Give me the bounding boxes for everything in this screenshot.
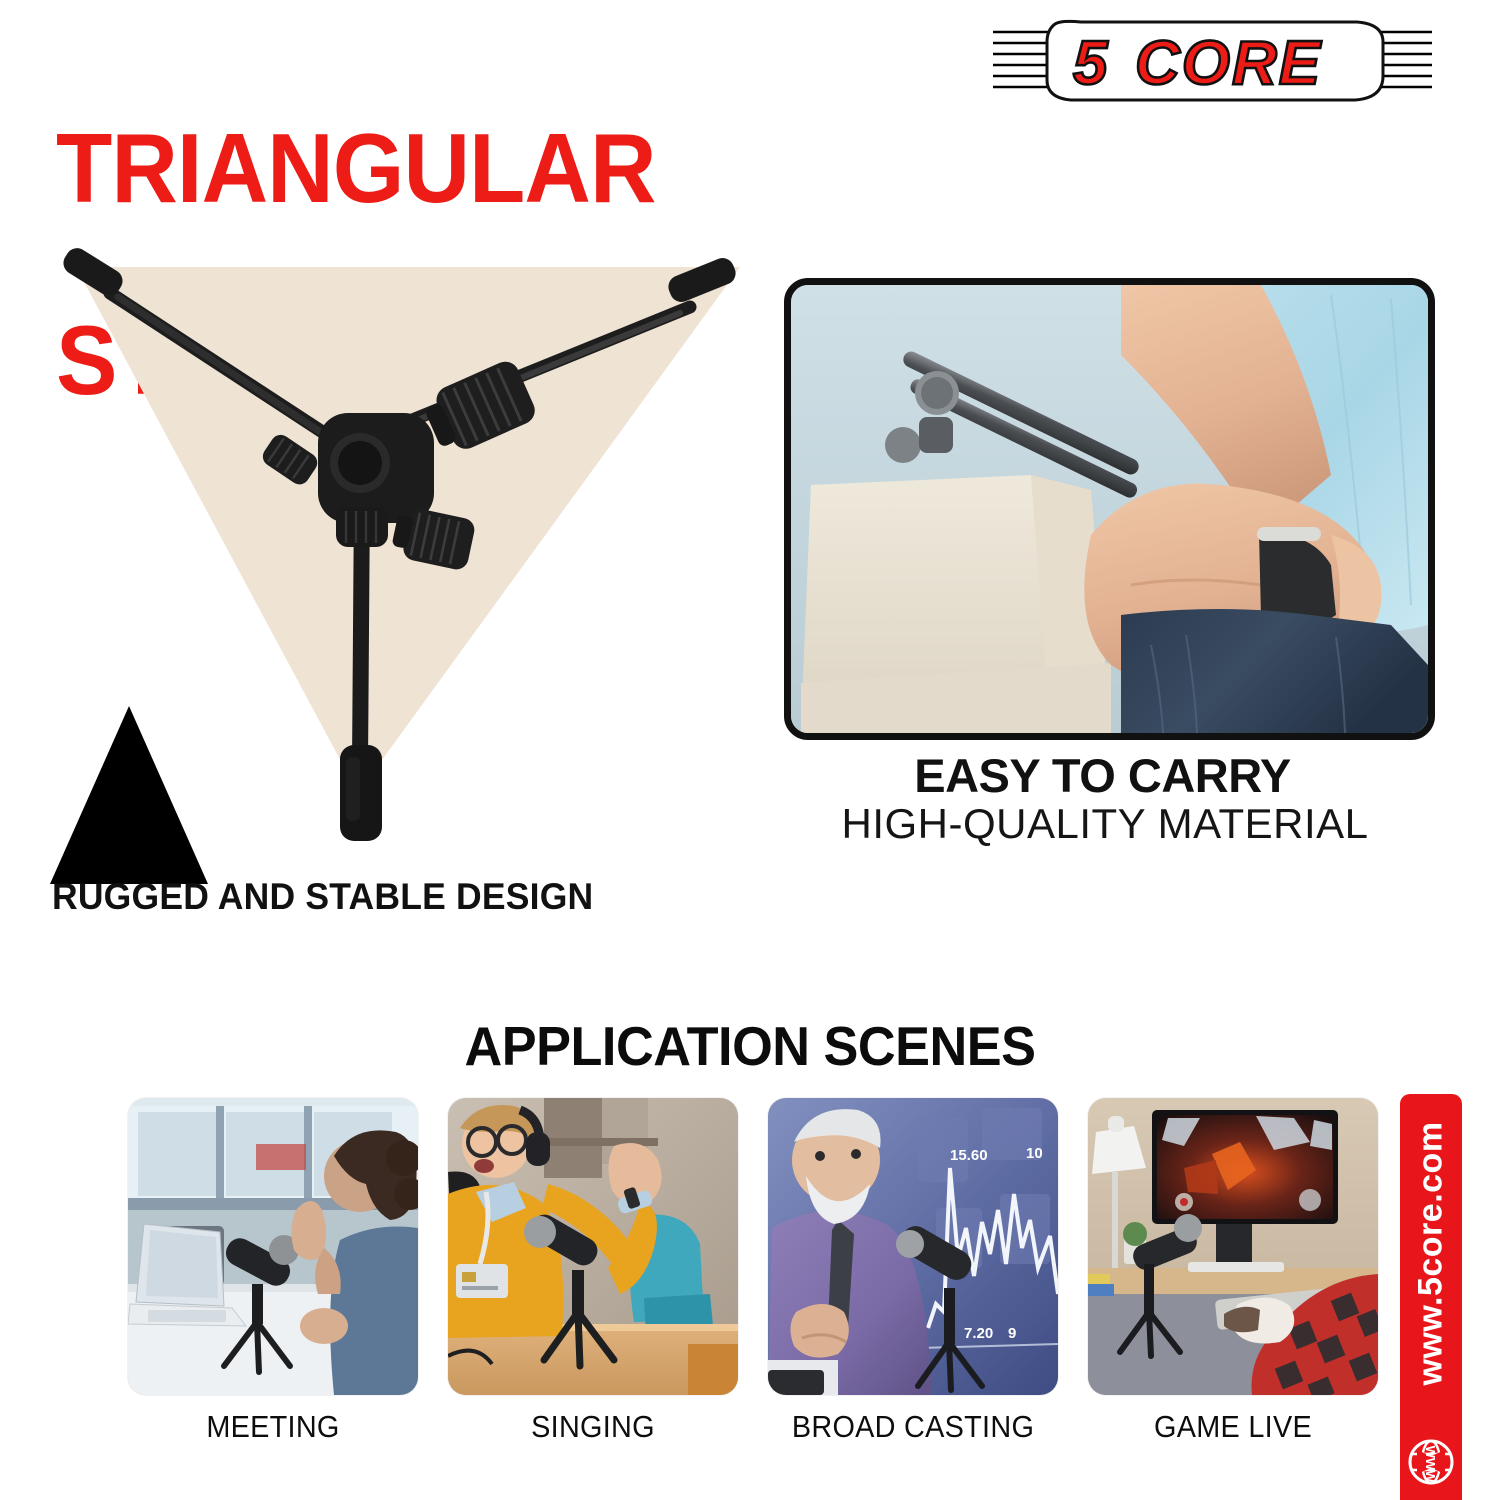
easy-to-carry-title: EASY TO CARRY [784,748,1421,803]
website-banner[interactable]: www.5core.com WWW [1400,1094,1462,1500]
page-title-line-1: TRIANGULAR [56,120,808,216]
svg-text:7.20: 7.20 [964,1325,993,1342]
scene-singing-thumbnail [448,1098,738,1395]
svg-text:WWW: WWW [1423,1446,1438,1484]
high-quality-material-subtitle: HIGH-QUALITY MATERIAL [760,800,1450,848]
scene-game-live-thumbnail [1088,1098,1378,1395]
scene-game-live: GAME LIVE [1088,1098,1378,1445]
svg-text:5: 5 [1073,29,1109,98]
scene-meeting: MEETING [128,1098,418,1445]
scene-meeting-thumbnail [128,1098,418,1395]
svg-text:15.60: 15.60 [950,1147,988,1164]
marketing-banner: TRIANGULAR STABILITY 5 CORE [0,0,1500,1500]
scene-broadcasting-thumbnail: 15.60 10 7.20 9 [768,1098,1058,1395]
application-scenes-title: APPLICATION SCENES [38,1014,1463,1078]
triangle-icon [48,702,210,888]
easy-to-carry-photo [784,278,1435,740]
svg-text:CORE: CORE [1135,29,1322,98]
brand-logo: 5 CORE [985,14,1440,110]
www-globe-icon: WWW [1407,1438,1455,1486]
scene-broadcasting: 15.60 10 7.20 9 [768,1098,1058,1445]
application-scenes-row: MEETING [128,1098,1378,1488]
scene-broadcasting-label: BROAD CASTING [778,1409,1048,1445]
rugged-design-caption: RUGGED AND STABLE DESIGN [52,876,724,918]
scene-singing: SINGING [448,1098,738,1445]
scene-game-live-label: GAME LIVE [1098,1409,1368,1445]
website-url: www.5core.com [1412,1121,1451,1385]
svg-text:10: 10 [1026,1145,1043,1162]
scene-singing-label: SINGING [458,1409,728,1445]
scene-meeting-label: MEETING [138,1409,408,1445]
svg-text:9: 9 [1008,1325,1016,1342]
